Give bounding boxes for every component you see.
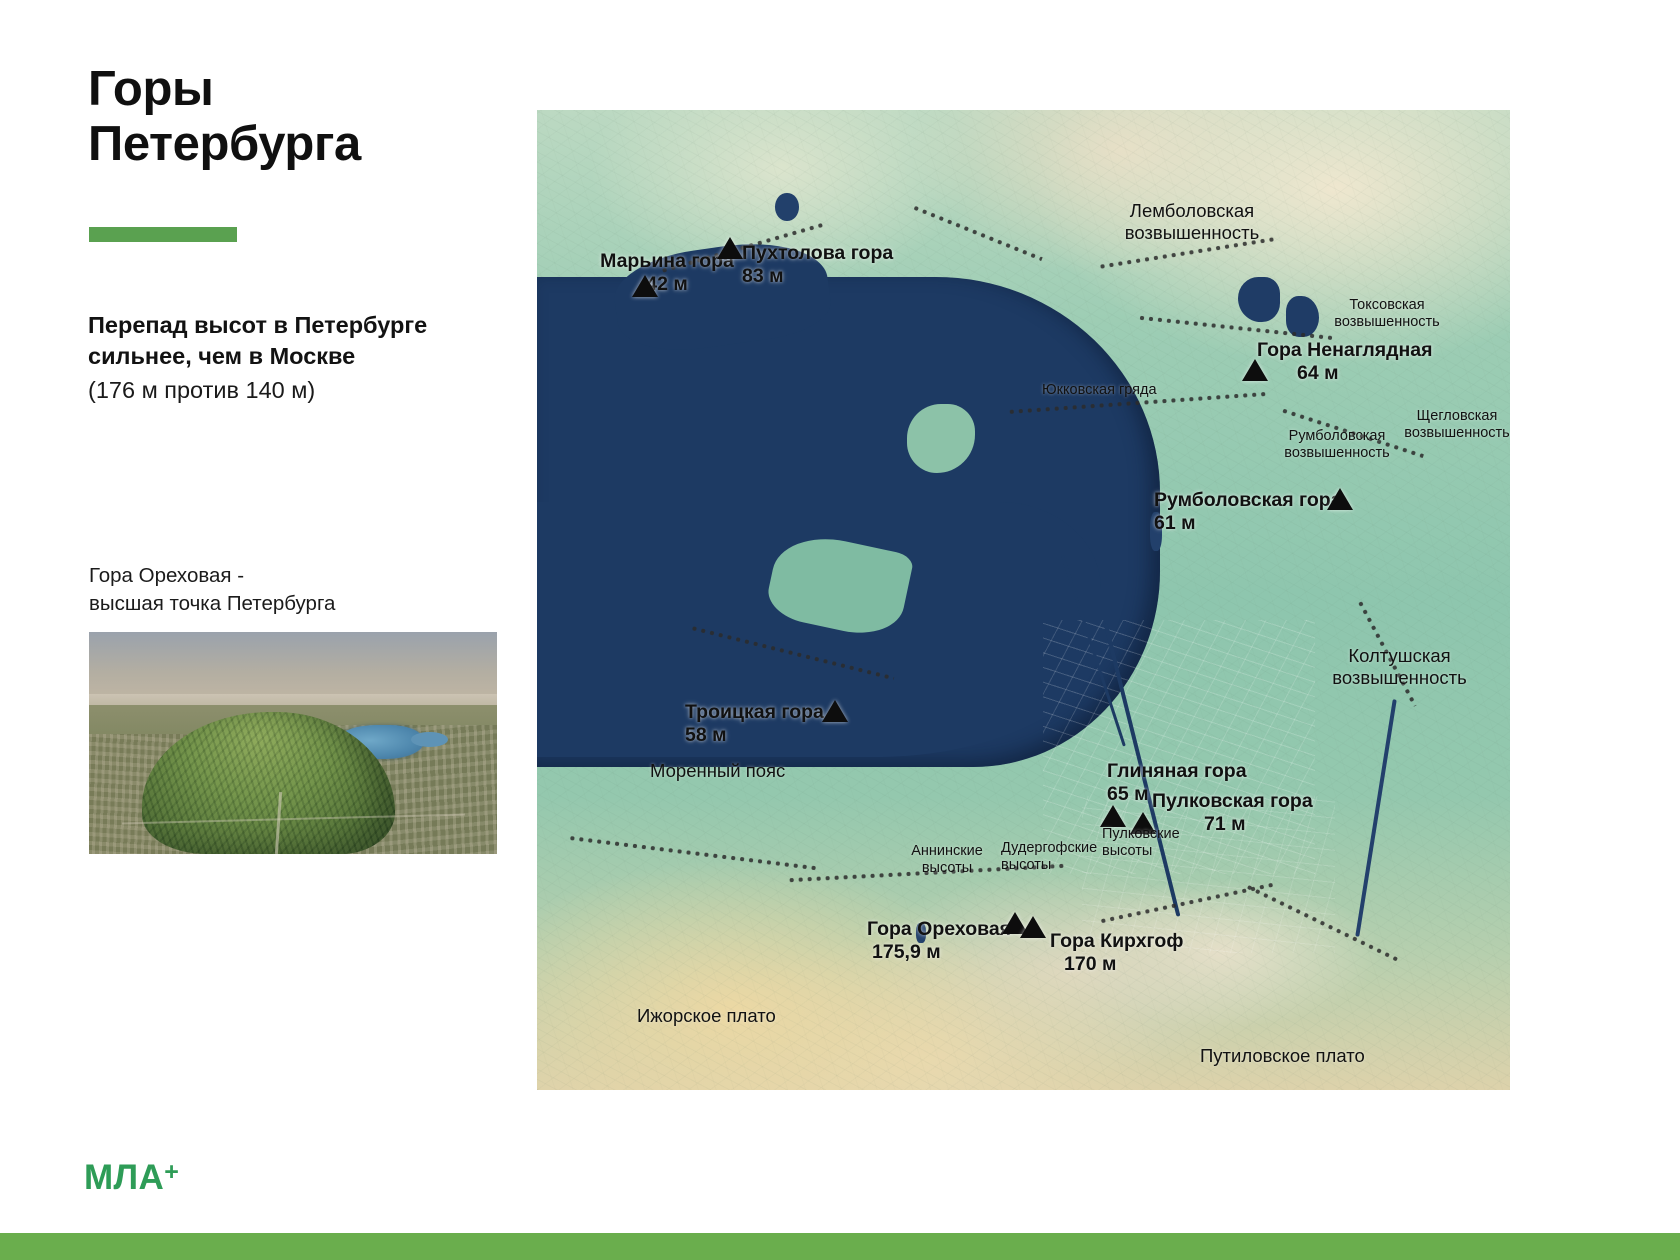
title-accent-bar (89, 227, 237, 242)
region-label-toksovskaya: Токсовская возвышенность (1317, 297, 1457, 331)
peak-elevation: 83 м (742, 265, 893, 288)
brand-logo[interactable]: МЛА+ (84, 1158, 179, 1198)
peak-marker-maryina-gora[interactable] (632, 275, 658, 297)
subtitle-bold-text: Перепад высот в Петербурге сильнее, чем … (88, 310, 508, 373)
region-line-2: возвышенность (1077, 222, 1307, 244)
peak-name: Пулковская гора (1152, 790, 1313, 813)
peak-name: Пухтолова гора (742, 242, 893, 265)
peak-elevation: 42 м (587, 273, 747, 296)
region-line-2: высоты (1001, 857, 1097, 874)
region-label-pulkovskie-vysoty: Пулковские высоты (1102, 826, 1180, 860)
map-lake-north (775, 193, 798, 220)
region-label-putilovskoe-plato: Путиловское плато (1200, 1045, 1365, 1067)
page-title-line-2: Петербурга (88, 117, 518, 172)
region-line-1: Ижорское плато (637, 1005, 776, 1027)
region-label-morennyi-poyas: Моренный пояс (650, 760, 785, 782)
region-label-dudergofskie-vysoty: Дудергофские высоты (1001, 840, 1097, 874)
peak-marker-gora-kirhgof[interactable] (1020, 916, 1046, 938)
left-content-panel: Горы Петербурга Перепад высот в Петербур… (0, 0, 537, 1260)
region-line-2: высоты (892, 860, 1002, 877)
peak-elevation: 71 м (1204, 813, 1313, 836)
photo-caption-line-1: Гора Ореховая - (89, 562, 489, 590)
peak-elevation: 175,9 м (872, 941, 1011, 964)
region-line-2: возвышенность (1302, 667, 1497, 689)
region-label-lembolovskaya: Лемболовская возвышенность (1077, 200, 1307, 244)
peak-marker-glinyanaya-gora[interactable] (1100, 805, 1126, 827)
peak-name: Глиняная гора (1107, 760, 1247, 783)
region-line-1: Путиловское плато (1200, 1045, 1365, 1067)
region-label-anninskie-vysoty: Аннинские высоты (892, 843, 1002, 877)
region-line-1: Лемболовская (1077, 200, 1307, 222)
peak-label-troitskaya-gora: Троицкая гора 58 м (685, 701, 824, 747)
brand-logo-text: МЛА (84, 1158, 164, 1197)
region-line-1: Щегловская (1392, 408, 1510, 425)
region-line-1: Румболовская (1257, 428, 1417, 445)
relief-map: Марьина гора 42 м Пухтолова гора 83 м Го… (537, 110, 1510, 1090)
region-line-1: Юкковская гряда (1042, 382, 1157, 399)
peak-name: Гора Ореховая (867, 918, 1011, 941)
region-line-1: Дудергофские (1001, 840, 1097, 857)
peak-marker-troitskaya-gora[interactable] (822, 700, 848, 722)
brand-logo-plus-icon: + (164, 1158, 179, 1186)
photo-caption-line-2: высшая точка Петербурга (89, 590, 489, 618)
peak-name: Троицкая гора (685, 701, 824, 724)
region-line-2: высоты (1102, 843, 1180, 860)
region-line-2: возвышенность (1317, 314, 1457, 331)
subtitle-block: Перепад высот в Петербурге сильнее, чем … (88, 310, 508, 406)
peak-name: Гора Ненаглядная (1257, 339, 1433, 362)
peak-elevation: 58 м (685, 724, 824, 747)
subtitle-plain-text: (176 м против 140 м) (88, 375, 508, 406)
region-line-1: Аннинские (892, 843, 1002, 860)
peak-marker-puhtolova-gora[interactable] (717, 237, 743, 259)
peak-label-gora-kirhgof: Гора Кирхгоф 170 м (1050, 930, 1183, 976)
peak-marker-gora-nenaglyadnaya[interactable] (1242, 359, 1268, 381)
peak-label-rumbolovskaya-gora: Румболовская гора 61 м (1154, 489, 1342, 535)
region-line-1: Пулковские (1102, 826, 1180, 843)
peak-elevation: 64 м (1297, 362, 1433, 385)
peak-marker-rumbolovskaya-gora[interactable] (1327, 488, 1353, 510)
region-line-1: Колтушская (1302, 645, 1497, 667)
peak-label-gora-nenaglyadnaya: Гора Ненаглядная 64 м (1257, 339, 1433, 385)
region-label-koltushskaya: Колтушская возвышенность (1302, 645, 1497, 689)
region-label-rumbolovskaya-upland: Румболовская возвышенность (1257, 428, 1417, 462)
region-label-izhorskoe-plato: Ижорское плато (637, 1005, 776, 1027)
region-line-1: Моренный пояс (650, 760, 785, 782)
peak-label-puhtolova-gora: Пухтолова гора 83 м (742, 242, 893, 288)
peak-elevation: 61 м (1154, 512, 1342, 535)
photo-caption: Гора Ореховая - высшая точка Петербурга (89, 562, 489, 618)
page-title-line-1: Горы (88, 62, 518, 117)
peak-name: Гора Кирхгоф (1050, 930, 1183, 953)
page-title: Горы Петербурга (88, 62, 518, 173)
region-line-1: Токсовская (1317, 297, 1457, 314)
aerial-photo-orekhovaya-hill (89, 632, 497, 854)
peak-name: Румболовская гора (1154, 489, 1342, 512)
map-lake-toksovo-1 (1238, 277, 1281, 322)
bottom-accent-bar (0, 1233, 1680, 1260)
peak-elevation: 170 м (1064, 953, 1183, 976)
region-line-2: возвышенность (1257, 445, 1417, 462)
peak-label-gora-orekhovaya: Гора Ореховая 175,9 м (867, 918, 1011, 964)
region-label-yukkovskaya-gryada: Юкковская гряда (1042, 382, 1157, 399)
